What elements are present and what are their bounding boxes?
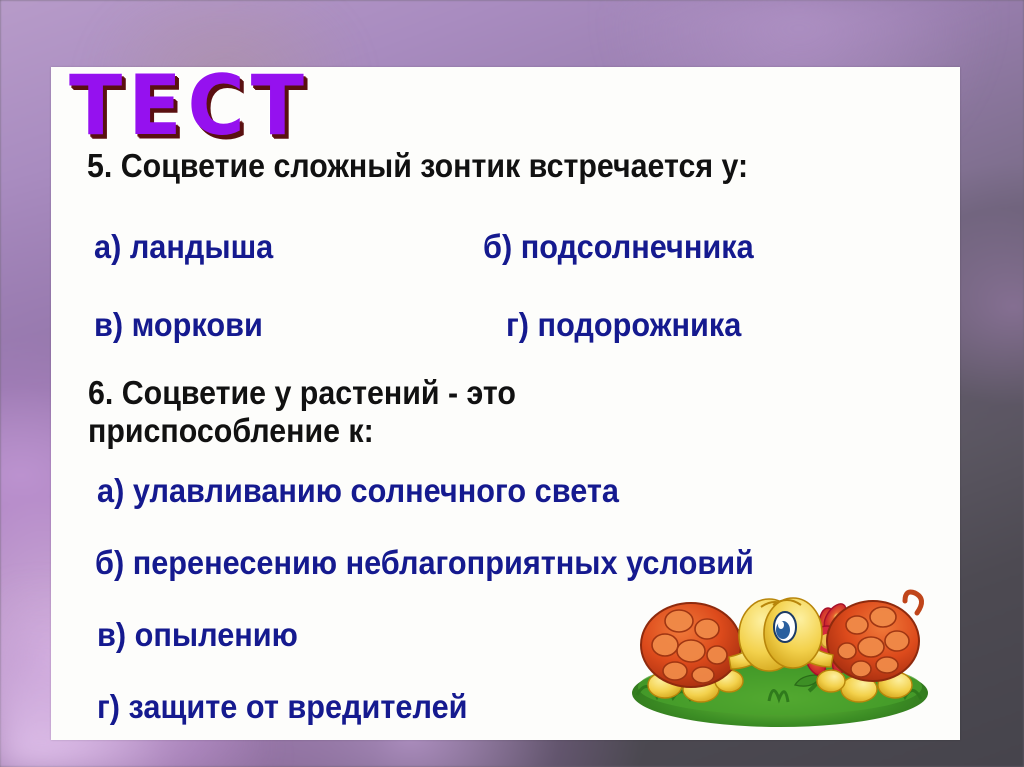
title-wordart-wrapper: ТЕСТ <box>69 67 310 147</box>
question-5-option-a[interactable]: а) ландыша <box>94 228 273 266</box>
question-6-text: 6. Соцветие у растений - это приспособле… <box>88 374 769 450</box>
question-6-option-v[interactable]: в) опылению <box>97 616 298 654</box>
question-6-option-g[interactable]: г) защите от вредителей <box>97 688 468 726</box>
question-5-option-v[interactable]: в) моркови <box>94 306 263 344</box>
page-title: ТЕСТ <box>69 67 310 152</box>
slide-root: ТЕСТ 5. Соцветие сложный зонтик встречае… <box>0 0 1024 767</box>
question-6-option-a[interactable]: а) улавливанию солнечного света <box>97 472 619 510</box>
question-5-option-b[interactable]: б) подсолнечника <box>483 228 754 266</box>
turtles-clipart <box>629 577 931 727</box>
content-card: ТЕСТ 5. Соцветие сложный зонтик встречае… <box>51 67 960 740</box>
question-5-option-g[interactable]: г) подорожника <box>506 306 741 344</box>
question-5-text: 5. Соцветие сложный зонтик встречается у… <box>87 147 748 185</box>
